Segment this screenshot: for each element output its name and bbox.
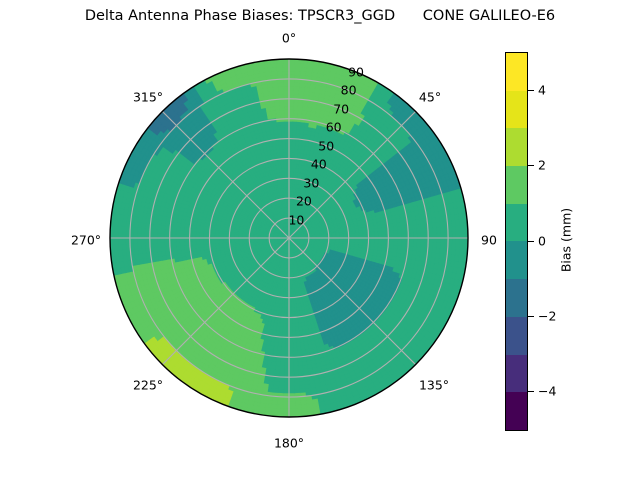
radial-tick-label: 40 [311, 157, 327, 172]
colorbar-tick-mark [528, 241, 534, 242]
colorbar-tick-label: 4 [538, 82, 546, 97]
radial-tick-label: 10 [288, 212, 304, 227]
colorbar-tick-label: −2 [538, 308, 556, 323]
colorbar-tick-mark [528, 391, 534, 392]
colorbar-tick-mark [528, 316, 534, 317]
radial-tick-label: 50 [318, 138, 334, 153]
angular-tick-label: 180° [274, 436, 304, 451]
colorbar-tick-label: 0 [538, 233, 546, 248]
polar-gridlines [110, 59, 468, 417]
colorbar-segment [506, 317, 527, 355]
angular-tick-label: 315° [133, 90, 163, 105]
colorbar-tick-mark [528, 90, 534, 91]
angular-tick-label: 225° [133, 378, 163, 393]
colorbar-segment [506, 241, 527, 279]
radial-tick-label: 90 [348, 65, 364, 80]
angular-tick-label: 45° [419, 90, 441, 105]
radial-tick-label: 60 [326, 120, 342, 135]
colorbar-tick-label: 2 [538, 158, 546, 173]
colorbar-segment [506, 355, 527, 393]
colorbar-segment [506, 204, 527, 242]
colorbar-segment [506, 53, 527, 91]
angular-tick-label: 90 [481, 233, 497, 248]
colorbar-title: Bias (mm) [559, 208, 574, 272]
angular-tick-label: 270° [71, 233, 101, 248]
colorbar-segment [506, 128, 527, 166]
colorbar [505, 52, 528, 431]
colorbar-segment [506, 91, 527, 129]
colorbar-segment [506, 392, 527, 430]
angular-tick-label: 0° [282, 31, 296, 46]
colorbar-tick-label: −4 [538, 384, 556, 399]
radial-tick-label: 80 [341, 83, 357, 98]
figure-canvas: Delta Antenna Phase Biases: TPSCR3_GGD C… [0, 0, 640, 480]
colorbar-segment [506, 166, 527, 204]
colorbar-segment [506, 279, 527, 317]
radial-tick-label: 20 [296, 194, 312, 209]
colorbar-tick-mark [528, 165, 534, 166]
angular-tick-label: 135° [419, 378, 449, 393]
radial-tick-label: 70 [333, 101, 349, 116]
radial-tick-label: 30 [303, 175, 319, 190]
